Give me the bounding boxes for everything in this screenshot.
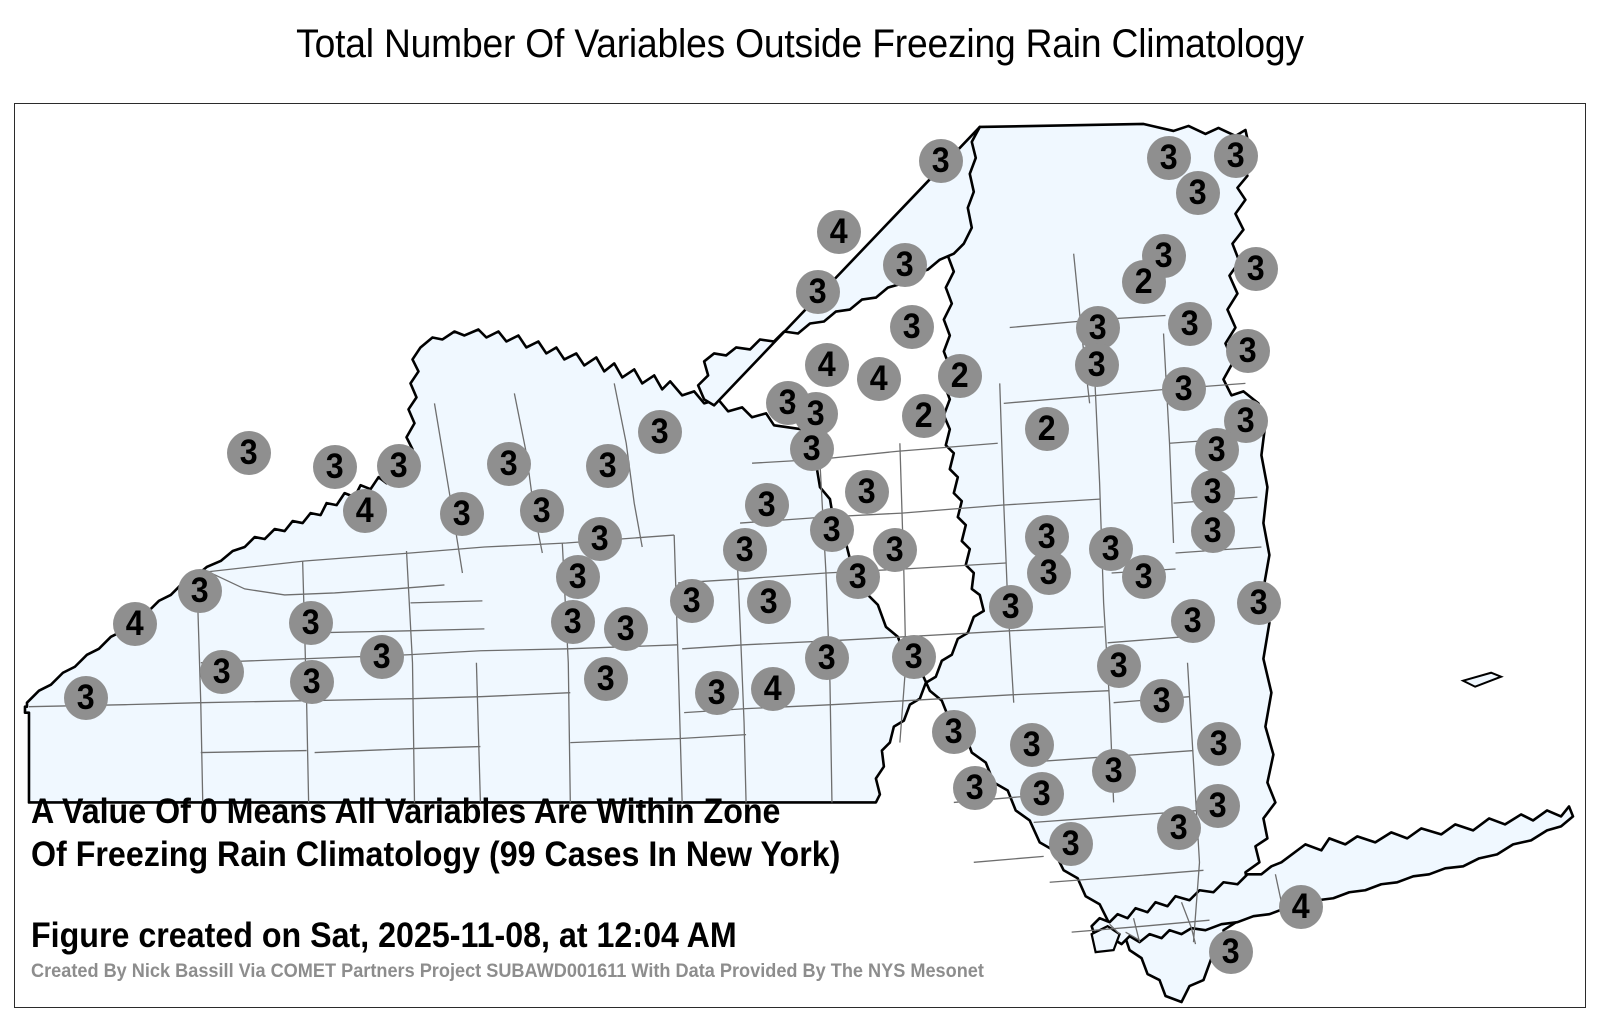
station-marker-value: 3 [708, 675, 726, 710]
station-marker-value: 3 [736, 532, 754, 567]
station-marker[interactable]: 3 [440, 492, 484, 536]
station-marker-value: 2 [1135, 264, 1153, 299]
station-marker-value: 3 [849, 559, 867, 594]
station-marker[interactable]: 3 [1092, 749, 1136, 793]
station-marker-value: 3 [896, 247, 914, 282]
station-marker[interactable]: 3 [1140, 679, 1184, 723]
station-marker[interactable]: 4 [751, 667, 795, 711]
station-marker-value: 4 [764, 671, 782, 706]
station-marker-value: 3 [1089, 310, 1107, 345]
station-marker-value: 3 [77, 680, 95, 715]
station-marker[interactable]: 3 [1122, 555, 1166, 599]
station-marker[interactable]: 2 [902, 394, 946, 438]
station-marker[interactable]: 3 [1195, 428, 1239, 472]
station-marker-value: 3 [1250, 585, 1268, 620]
station-marker[interactable]: 3 [64, 676, 108, 720]
station-marker[interactable]: 3 [551, 600, 595, 644]
station-marker-value: 3 [1237, 403, 1255, 438]
station-marker-value: 3 [1184, 603, 1202, 638]
station-marker[interactable]: 3 [670, 579, 714, 623]
station-marker[interactable]: 2 [938, 354, 982, 398]
station-marker-value: 3 [597, 661, 615, 696]
station-marker-value: 4 [356, 493, 374, 528]
station-marker[interactable]: 3 [805, 636, 849, 680]
station-marker-value: 3 [945, 714, 963, 749]
station-marker-value: 3 [1088, 347, 1106, 382]
station-marker[interactable]: 3 [745, 483, 789, 527]
figure-root: Total Number Of Variables Outside Freezi… [0, 0, 1600, 1020]
station-marker-value: 3 [191, 573, 209, 608]
station-marker[interactable]: 3 [695, 671, 739, 715]
station-marker[interactable]: 3 [1214, 134, 1258, 178]
station-marker-value: 3 [1210, 726, 1228, 761]
station-marker[interactable]: 3 [1197, 722, 1241, 766]
station-marker[interactable]: 3 [377, 444, 421, 488]
page-title: Total Number Of Variables Outside Freezi… [56, 22, 1544, 67]
station-marker[interactable]: 3 [1191, 470, 1235, 514]
station-marker[interactable]: 2 [1122, 260, 1166, 304]
station-marker[interactable]: 3 [586, 444, 630, 488]
station-marker[interactable]: 3 [747, 580, 791, 624]
station-marker-value: 3 [373, 639, 391, 674]
station-marker[interactable]: 3 [1157, 806, 1201, 850]
station-marker[interactable]: 3 [892, 635, 936, 679]
station-marker-value: 3 [903, 309, 921, 344]
station-marker-value: 3 [302, 605, 320, 640]
station-marker-value: 3 [1170, 810, 1188, 845]
station-marker-value: 3 [326, 449, 344, 484]
station-marker[interactable]: 3 [313, 445, 357, 489]
station-marker[interactable]: 4 [1279, 885, 1323, 929]
station-marker-value: 3 [1227, 138, 1245, 173]
station-marker-value: 3 [886, 532, 904, 567]
station-marker-value: 3 [1209, 788, 1227, 823]
station-marker-value: 3 [966, 770, 984, 805]
station-marker-value: 3 [617, 611, 635, 646]
station-marker[interactable]: 3 [790, 427, 834, 471]
station-marker-value: 3 [651, 414, 669, 449]
station-marker[interactable]: 3 [989, 585, 1033, 629]
station-marker-value: 3 [1204, 474, 1222, 509]
station-marker[interactable]: 4 [857, 357, 901, 401]
station-marker[interactable]: 3 [290, 660, 334, 704]
station-marker[interactable]: 3 [487, 442, 531, 486]
station-marker-value: 3 [1208, 432, 1226, 467]
station-marker-value: 3 [1160, 140, 1178, 175]
station-marker[interactable]: 3 [1027, 551, 1071, 595]
annotation-note-line1: A Value Of 0 Means All Variables Are Wit… [31, 792, 780, 831]
station-marker-value: 3 [1153, 683, 1171, 718]
station-marker-value: 3 [533, 493, 551, 528]
station-marker[interactable]: 3 [1191, 509, 1235, 553]
station-marker-value: 3 [390, 448, 408, 483]
station-marker-value: 4 [126, 606, 144, 641]
station-marker[interactable]: 3 [723, 528, 767, 572]
station-marker[interactable]: 3 [1196, 784, 1240, 828]
station-marker[interactable]: 3 [1168, 302, 1212, 346]
station-marker-value: 3 [1222, 934, 1240, 969]
station-marker-value: 3 [213, 654, 231, 689]
station-marker[interactable]: 3 [796, 270, 840, 314]
station-marker[interactable]: 3 [845, 470, 889, 514]
station-marker[interactable]: 3 [1171, 599, 1215, 643]
station-marker[interactable]: 3 [890, 305, 934, 349]
station-marker[interactable]: 3 [604, 607, 648, 651]
station-marker[interactable]: 3 [578, 517, 622, 561]
station-marker[interactable]: 4 [343, 489, 387, 533]
station-marker-value: 3 [1181, 306, 1199, 341]
station-marker-value: 3 [1135, 559, 1153, 594]
station-marker[interactable]: 3 [200, 650, 244, 694]
station-marker-value: 3 [758, 487, 776, 522]
station-marker-value: 3 [240, 435, 258, 470]
station-marker-value: 3 [807, 396, 825, 431]
station-marker[interactable]: 3 [919, 139, 963, 183]
station-marker-value: 3 [1023, 727, 1041, 762]
station-marker-value: 2 [915, 398, 933, 433]
station-marker[interactable]: 3 [638, 410, 682, 454]
station-marker[interactable]: 3 [836, 555, 880, 599]
station-marker-value: 2 [1038, 411, 1056, 446]
station-marker-value: 3 [1175, 371, 1193, 406]
station-marker[interactable]: 3 [932, 710, 976, 754]
station-marker-value: 3 [823, 512, 841, 547]
station-marker-value: 3 [1189, 175, 1207, 210]
station-marker[interactable]: 3 [520, 489, 564, 533]
station-marker[interactable]: 3 [289, 601, 333, 645]
station-marker[interactable]: 3 [1147, 136, 1191, 180]
station-marker-value: 4 [870, 361, 888, 396]
station-marker[interactable]: 3 [810, 508, 854, 552]
station-marker[interactable]: 3 [584, 657, 628, 701]
station-marker[interactable]: 3 [227, 431, 271, 475]
station-marker-value: 3 [905, 639, 923, 674]
station-marker[interactable]: 2 [1025, 407, 1069, 451]
station-marker-value: 3 [569, 559, 587, 594]
station-marker[interactable]: 3 [1162, 367, 1206, 411]
station-marker[interactable]: 3 [1075, 343, 1119, 387]
station-marker-value: 3 [1247, 251, 1265, 286]
station-marker[interactable]: 4 [817, 210, 861, 254]
station-marker[interactable]: 4 [805, 343, 849, 387]
station-marker-value: 4 [818, 347, 836, 382]
station-marker-value: 3 [932, 143, 950, 178]
station-marker-value: 3 [818, 640, 836, 675]
annotation-note-line2: Of Freezing Rain Climatology (99 Cases I… [31, 835, 840, 874]
station-marker[interactable]: 3 [1010, 723, 1054, 767]
station-marker-value: 3 [1102, 531, 1120, 566]
station-marker-value: 3 [1239, 333, 1257, 368]
map-canvas: 3333433323333442333323332333333343333333… [14, 103, 1586, 1008]
station-marker[interactable]: 4 [113, 602, 157, 646]
station-marker-value: 3 [1002, 589, 1020, 624]
station-marker-value: 3 [453, 496, 471, 531]
station-marker-value: 3 [564, 604, 582, 639]
station-marker[interactable]: 3 [1049, 822, 1093, 866]
station-marker[interactable]: 3 [178, 569, 222, 613]
station-marker-value: 3 [1204, 513, 1222, 548]
station-marker-value: 3 [1033, 776, 1051, 811]
station-marker-value: 4 [830, 214, 848, 249]
station-marker[interactable]: 3 [953, 766, 997, 810]
station-marker[interactable]: 3 [1209, 930, 1253, 974]
station-marker-value: 3 [1040, 555, 1058, 590]
station-marker[interactable]: 3 [1097, 644, 1141, 688]
station-marker[interactable]: 3 [1226, 329, 1270, 373]
station-marker-value: 3 [858, 474, 876, 509]
station-marker[interactable]: 3 [1020, 772, 1064, 816]
station-marker[interactable]: 3 [360, 635, 404, 679]
station-marker[interactable]: 3 [556, 555, 600, 599]
station-marker-value: 3 [599, 448, 617, 483]
annotation-created-timestamp: Figure created on Sat, 2025-11-08, at 12… [31, 916, 737, 956]
station-marker-value: 3 [303, 664, 321, 699]
station-marker-value: 3 [1038, 519, 1056, 554]
station-marker-value: 2 [951, 358, 969, 393]
station-marker-value: 3 [803, 431, 821, 466]
station-marker[interactable]: 3 [1237, 581, 1281, 625]
station-marker-value: 3 [500, 446, 518, 481]
annotation-note: A Value Of 0 Means All Variables Are Wit… [31, 790, 840, 876]
station-marker[interactable]: 3 [883, 243, 927, 287]
annotation-credit: Created By Nick Bassill Via COMET Partne… [31, 960, 984, 983]
station-marker[interactable]: 3 [1176, 171, 1220, 215]
station-marker-value: 3 [591, 521, 609, 556]
station-marker-value: 4 [1292, 889, 1310, 924]
station-marker-value: 3 [1110, 648, 1128, 683]
station-marker[interactable]: 3 [1234, 247, 1278, 291]
station-marker[interactable]: 3 [873, 528, 917, 572]
station-marker-value: 3 [809, 274, 827, 309]
station-marker-value: 3 [760, 584, 778, 619]
station-marker-value: 3 [683, 583, 701, 618]
station-marker-value: 3 [1105, 753, 1123, 788]
station-marker-value: 3 [1062, 826, 1080, 861]
